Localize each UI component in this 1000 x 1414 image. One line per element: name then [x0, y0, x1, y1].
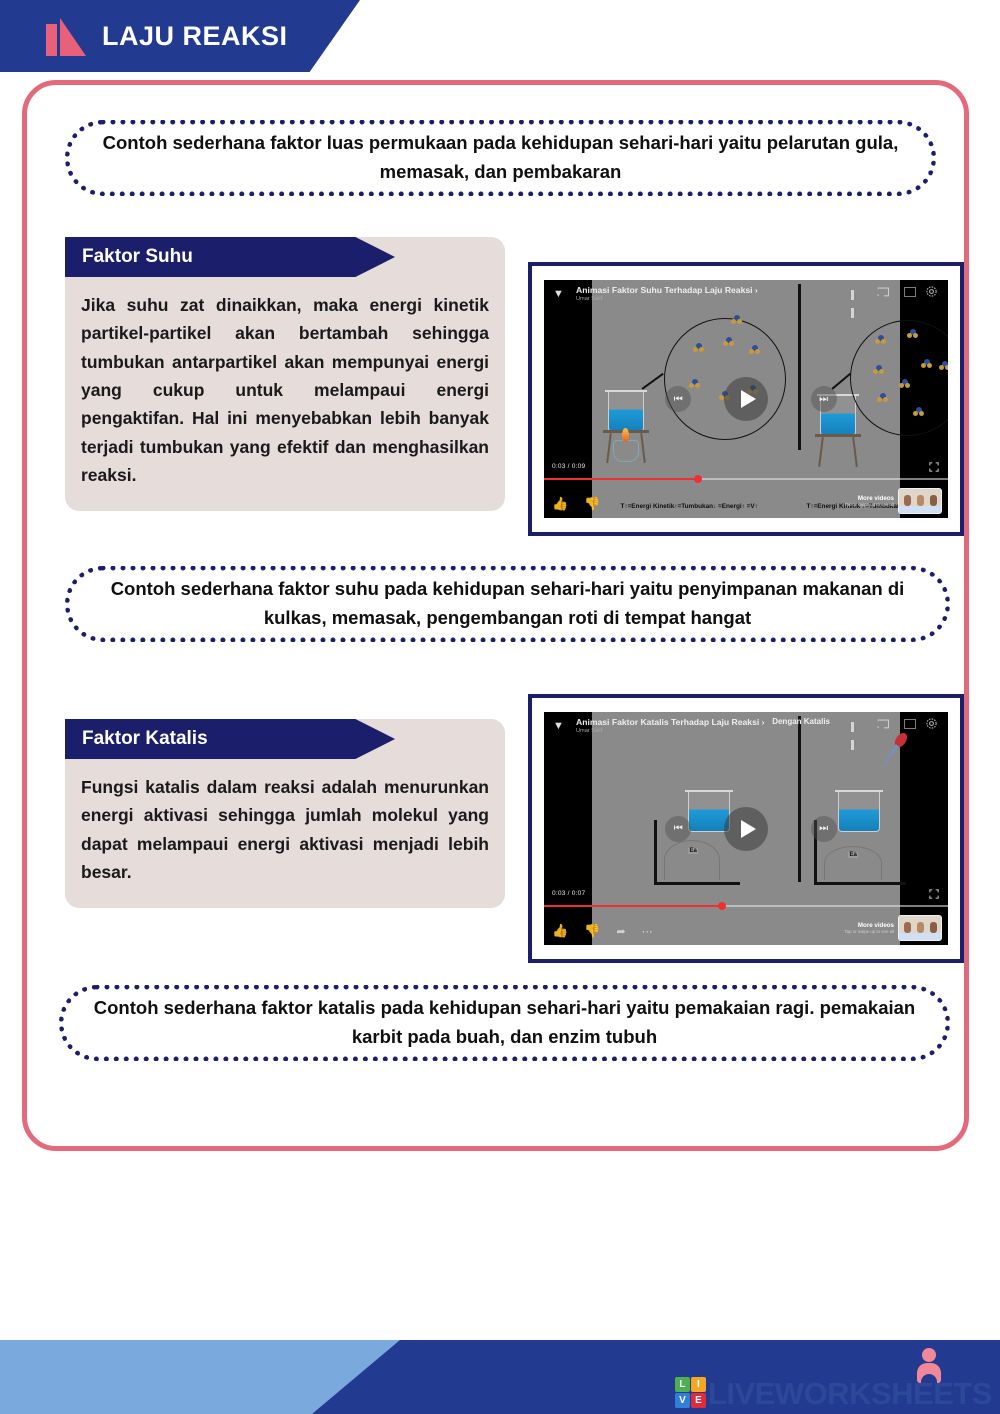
square-i: I — [691, 1377, 706, 1392]
video-timestamp: 0:03 / 0:09 — [552, 463, 585, 470]
video-channel[interactable]: Umar Said — [576, 296, 602, 302]
dislike-icon[interactable]: 👎 — [584, 923, 600, 939]
energy-axis-left-y — [654, 820, 657, 884]
fullscreen-icon[interactable] — [929, 889, 939, 899]
brand-wordmark: LIVEWORKSHEETS — [708, 1376, 992, 1412]
more-videos-subtitle: Tap or swipe up to see all — [844, 502, 894, 507]
pause-icon[interactable] — [851, 287, 860, 297]
video-frame-katalis[interactable]: Ea Ea ▼ Animasi Faktor Katalis Terhadap … — [528, 694, 964, 963]
callout-luas-permukaan: Contoh sederhana faktor luas permukaan p… — [65, 120, 936, 196]
factor-text-suhu: Jika suhu zat dinaikkan, maka energi kin… — [81, 291, 489, 489]
more-videos-subtitle: Tap or swipe up to see all — [844, 929, 894, 934]
energy-axis-right-x — [814, 882, 906, 885]
chevron-down-icon[interactable]: ▼ — [553, 288, 564, 300]
dislike-icon[interactable]: 👎 — [584, 496, 600, 512]
next-video-thumbnail[interactable] — [898, 488, 942, 514]
callout-text: Contoh sederhana faktor suhu pada kehidu… — [96, 575, 919, 632]
video-timestamp: 0:03 / 0:07 — [552, 890, 585, 897]
callout-text: Contoh sederhana faktor katalis pada keh… — [90, 994, 919, 1051]
more-videos-title: More videos — [844, 495, 894, 502]
play-button[interactable] — [724, 377, 768, 421]
player-top-bar: ▼ Animasi Faktor Suhu Terhadap Laju Reak… — [544, 280, 948, 314]
callout-faktor-katalis: Contoh sederhana faktor katalis pada keh… — [59, 985, 950, 1061]
square-v: V — [675, 1393, 690, 1408]
liveworksheets-logo: L I V E LIVEWORKSHEETS — [675, 1376, 992, 1414]
more-videos-panel[interactable]: More videos Tap or swipe up to see all — [844, 488, 942, 514]
bar-chart-logo-icon — [46, 16, 86, 56]
video-channel[interactable]: Umar Said — [576, 728, 602, 734]
beaker-right-icon — [838, 788, 880, 836]
cast-icon[interactable] — [876, 287, 890, 298]
gear-icon[interactable] — [925, 285, 938, 298]
equation-left: T↑=Energi Kinetik↑=Tumbukan↓ =Energi↑ =V… — [620, 503, 757, 510]
previous-button[interactable]: ⏮ — [665, 386, 691, 412]
gear-icon[interactable] — [925, 717, 938, 730]
progress-bar[interactable] — [544, 478, 948, 480]
worksheet-page: LAJU REAKSI Contoh sederhana faktor luas… — [0, 0, 1000, 1414]
molecule-zone-right — [850, 320, 948, 436]
subtitles-icon[interactable] — [904, 719, 916, 729]
page-footer: L I V E LIVEWORKSHEETS — [0, 1340, 1000, 1414]
subtitles-icon[interactable] — [904, 287, 916, 297]
more-options-icon[interactable]: ⋯ — [642, 925, 653, 938]
callout-text: Contoh sederhana faktor luas permukaan p… — [96, 129, 905, 186]
video-player-katalis[interactable]: Ea Ea ▼ Animasi Faktor Katalis Terhadap … — [544, 712, 948, 945]
progress-bar[interactable] — [544, 905, 948, 907]
more-videos-title: More videos — [844, 922, 894, 929]
next-video-thumbnail[interactable] — [898, 915, 942, 941]
like-icon[interactable]: 👍 — [552, 496, 568, 512]
next-button[interactable]: ⏭ — [811, 386, 837, 412]
molecule-zone-left — [664, 318, 786, 440]
page-title: LAJU REAKSI — [102, 21, 288, 52]
factor-body-suhu: Jika suhu zat dinaikkan, maka energi kin… — [65, 237, 505, 511]
pointer-line-left — [642, 373, 664, 390]
like-icon[interactable]: 👍 — [552, 923, 568, 939]
factor-banner-label: Faktor Katalis — [82, 728, 208, 750]
chevron-down-icon[interactable]: ▼ — [553, 720, 564, 732]
next-button[interactable]: ⏭ — [811, 816, 837, 842]
energy-curve-left — [664, 840, 720, 880]
square-l: L — [675, 1377, 690, 1392]
callout-faktor-suhu: Contoh sederhana faktor suhu pada kehidu… — [65, 566, 950, 642]
video-frame-suhu[interactable]: T↑=Energi Kinetik↑=Tumbukan↓ =Energi↑ =V… — [528, 262, 964, 536]
factor-banner-suhu: Faktor Suhu — [65, 237, 395, 277]
beaker-left-icon — [608, 388, 644, 432]
energy-axis-left-x — [654, 882, 740, 885]
factor-panel-suhu: Jika suhu zat dinaikkan, maka energi kin… — [65, 237, 505, 511]
more-videos-panel[interactable]: More videos Tap or swipe up to see all — [844, 915, 942, 941]
video-title[interactable]: Animasi Faktor Katalis Terhadap Laju Rea… — [576, 717, 764, 727]
ea-label-left: Ea — [688, 848, 697, 854]
cast-icon[interactable] — [876, 719, 890, 730]
fullscreen-icon[interactable] — [929, 462, 939, 472]
player-action-row: 👍 👎 — [552, 496, 600, 512]
factor-banner-katalis: Faktor Katalis — [65, 719, 395, 759]
pointer-line-right — [832, 373, 851, 390]
content-card: Contoh sederhana faktor luas permukaan p… — [22, 80, 969, 1151]
factor-text-katalis: Fungsi katalis dalam reaksi adalah menur… — [81, 773, 489, 886]
ea-label-right: Ea — [848, 852, 857, 858]
square-e: E — [691, 1393, 706, 1408]
share-icon[interactable]: ➦ — [616, 925, 625, 938]
pause-icon[interactable] — [851, 719, 860, 729]
live-squares-icon: L I V E — [675, 1377, 706, 1408]
video-title[interactable]: Animasi Faktor Suhu Terhadap Laju Reaksi… — [576, 285, 758, 295]
tripod-stand-right-icon — [815, 434, 861, 437]
player-action-row: 👍 👎 ➦ ⋯ — [552, 923, 653, 939]
scene-overlay-label: Dengan Katalis — [772, 717, 830, 726]
page-header: LAJU REAKSI — [0, 0, 360, 72]
bunsen-burner-icon — [613, 440, 639, 462]
player-top-bar: ▼ Animasi Faktor Katalis Terhadap Laju R… — [544, 712, 948, 746]
factor-panel-katalis: Fungsi katalis dalam reaksi adalah menur… — [65, 719, 505, 908]
previous-button[interactable]: ⏮ — [665, 816, 691, 842]
video-player-suhu[interactable]: T↑=Energi Kinetik↑=Tumbukan↓ =Energi↑ =V… — [544, 280, 948, 518]
factor-banner-label: Faktor Suhu — [82, 246, 193, 268]
play-button[interactable] — [724, 807, 768, 851]
